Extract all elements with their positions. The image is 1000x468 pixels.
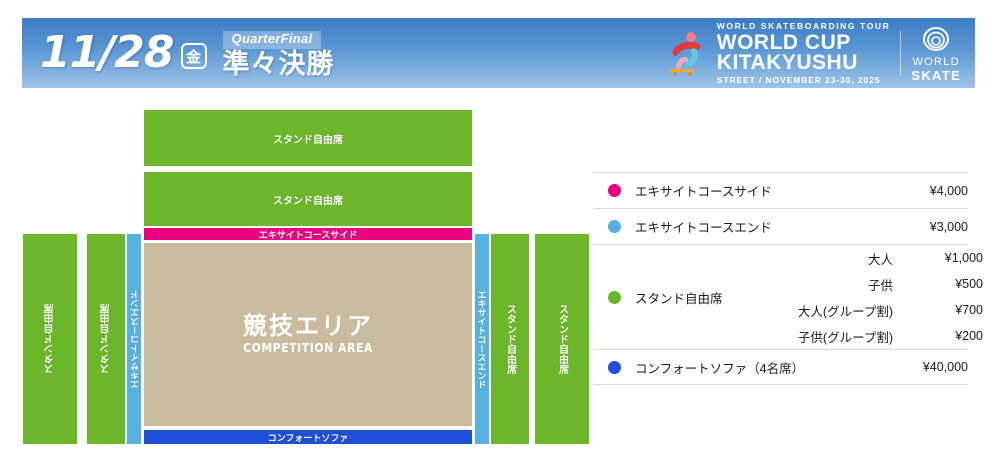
legend-swatch-cell bbox=[593, 245, 635, 349]
legend-swatch-cell bbox=[593, 220, 635, 233]
skateboarder-icon bbox=[665, 30, 707, 76]
event-title-line1: WORLD CUP bbox=[717, 32, 851, 53]
event-subtitle: STREET / NOVEMBER 23-30, 2025 bbox=[717, 76, 881, 85]
event-header-bar: 11/28 金 QuarterFinal 準々決勝 WORLD SKATEBOA… bbox=[22, 18, 975, 88]
tier-price: ¥1,000 bbox=[897, 251, 983, 265]
tier-label: 大人 bbox=[775, 249, 897, 268]
world-skate-swirl-icon bbox=[919, 25, 953, 55]
tier-label: 大人(グループ割) bbox=[775, 301, 897, 320]
legend-swatch-cell bbox=[593, 184, 635, 197]
world-skate-line2: SKATE bbox=[911, 69, 961, 82]
tier-price: ¥700 bbox=[897, 303, 983, 317]
price-legend-table: エキサイトコースサイド ¥4,000 エキサイトコースエンド ¥3,000 スタ… bbox=[593, 172, 968, 385]
seat-block-left-excite-course-end[interactable]: エキサイトコースエンド bbox=[126, 233, 142, 445]
legend-label: コンフォートソファ（4名席） bbox=[635, 358, 882, 377]
header-logo-group: WORLD SKATEBOARDING TOUR WORLD CUP KITAK… bbox=[665, 18, 961, 88]
color-dot-icon bbox=[608, 184, 621, 197]
world-skate-line1: WORLD bbox=[912, 57, 959, 68]
legend-price: ¥3,000 bbox=[882, 220, 968, 234]
seat-block-left-stand-inner[interactable]: スタンド自由席 bbox=[86, 233, 126, 445]
seat-block-comfort-sofa[interactable]: コンフォートソファ bbox=[143, 429, 473, 445]
world-cup-wordmark: WORLD SKATEBOARDING TOUR WORLD CUP KITAK… bbox=[717, 22, 891, 85]
tier-price: ¥500 bbox=[897, 277, 983, 291]
seat-block-label: スタンド自由席 bbox=[43, 304, 58, 374]
seat-block-right-excite-course-end[interactable]: エキサイトコースエンド bbox=[474, 233, 490, 445]
legend-row-excite-course-end: エキサイトコースエンド ¥3,000 bbox=[593, 208, 968, 244]
event-title-line2: KITAKYUSHU bbox=[717, 52, 858, 73]
tier-label: 子供 bbox=[775, 275, 897, 294]
legend-price: ¥4,000 bbox=[882, 184, 968, 198]
tier-label: 子供(グループ割) bbox=[775, 327, 897, 346]
seat-block-label: エキサイトコースサイド bbox=[259, 228, 358, 241]
seat-block-label: コンフォートソファ bbox=[268, 431, 349, 444]
legend-label: エキサイトコースエンド bbox=[635, 217, 882, 236]
logo-divider bbox=[900, 31, 901, 75]
seat-block-stand-top-2[interactable]: スタンド自由席 bbox=[143, 171, 473, 227]
competition-area: 競技エリア COMPETITION AREA bbox=[143, 242, 473, 427]
seat-block-label: スタンド自由席 bbox=[555, 304, 570, 374]
seat-block-label: スタンド自由席 bbox=[503, 304, 518, 374]
legend-swatch-cell bbox=[593, 361, 635, 374]
seat-block-excite-course-side[interactable]: エキサイトコースサイド bbox=[143, 227, 473, 241]
competition-area-label-jp: 競技エリア bbox=[243, 314, 373, 340]
color-dot-icon bbox=[608, 361, 621, 374]
seat-block-stand-top-1[interactable]: スタンド自由席 bbox=[143, 109, 473, 167]
round-japanese-title: 準々決勝 bbox=[223, 50, 335, 78]
seat-block-label: スタンド自由席 bbox=[273, 192, 343, 207]
seat-block-left-stand-outer[interactable]: スタンド自由席 bbox=[22, 233, 78, 445]
legend-row-excite-course-side: エキサイトコースサイド ¥4,000 bbox=[593, 172, 968, 208]
world-skate-logo: WORLD SKATE bbox=[911, 25, 961, 82]
seat-block-label: エキサイトコースエンド bbox=[476, 290, 489, 389]
seat-block-label: スタンド自由席 bbox=[273, 131, 343, 146]
seat-block-right-stand-inner[interactable]: スタンド自由席 bbox=[490, 233, 530, 445]
legend-row-stand-free-seat: スタンド自由席 大人 ¥1,000 子供 ¥500 大人(グループ割) ¥700… bbox=[593, 244, 968, 349]
color-dot-icon bbox=[608, 220, 621, 233]
tier-price: ¥200 bbox=[897, 329, 983, 343]
legend-tier-list: 大人 ¥1,000 子供 ¥500 大人(グループ割) ¥700 子供(グループ… bbox=[775, 245, 983, 349]
legend-tier-row: 大人(グループ割) ¥700 bbox=[775, 297, 983, 323]
seat-block-right-stand-outer[interactable]: スタンド自由席 bbox=[534, 233, 590, 445]
legend-tier-row: 子供 ¥500 bbox=[775, 271, 983, 297]
legend-tier-row: 大人 ¥1,000 bbox=[775, 245, 983, 271]
venue-seat-map: スタンド自由席 スタンド自由席 エキサイトコースサイド 競技エリア COMPET… bbox=[0, 95, 600, 455]
competition-area-label-en: COMPETITION AREA bbox=[243, 341, 373, 355]
legend-label: エキサイトコースサイド bbox=[635, 181, 882, 200]
round-block: QuarterFinal 準々決勝 bbox=[223, 30, 335, 78]
legend-label: スタンド自由席 bbox=[635, 245, 775, 349]
header-left-group: 11/28 金 QuarterFinal 準々決勝 bbox=[40, 18, 335, 88]
event-date: 11/28 bbox=[40, 31, 174, 75]
legend-price: ¥40,000 bbox=[882, 360, 968, 374]
color-dot-icon bbox=[608, 291, 621, 304]
seat-block-label: スタンド自由席 bbox=[99, 304, 114, 374]
legend-row-comfort-sofa: コンフォートソファ（4名席） ¥40,000 bbox=[593, 349, 968, 385]
legend-tier-row: 子供(グループ割) ¥200 bbox=[775, 323, 983, 349]
tour-name: WORLD SKATEBOARDING TOUR bbox=[717, 22, 891, 31]
day-of-week-badge: 金 bbox=[181, 43, 207, 69]
seat-block-label: エキサイトコースエンド bbox=[128, 290, 141, 389]
round-english-badge: QuarterFinal bbox=[223, 31, 322, 49]
